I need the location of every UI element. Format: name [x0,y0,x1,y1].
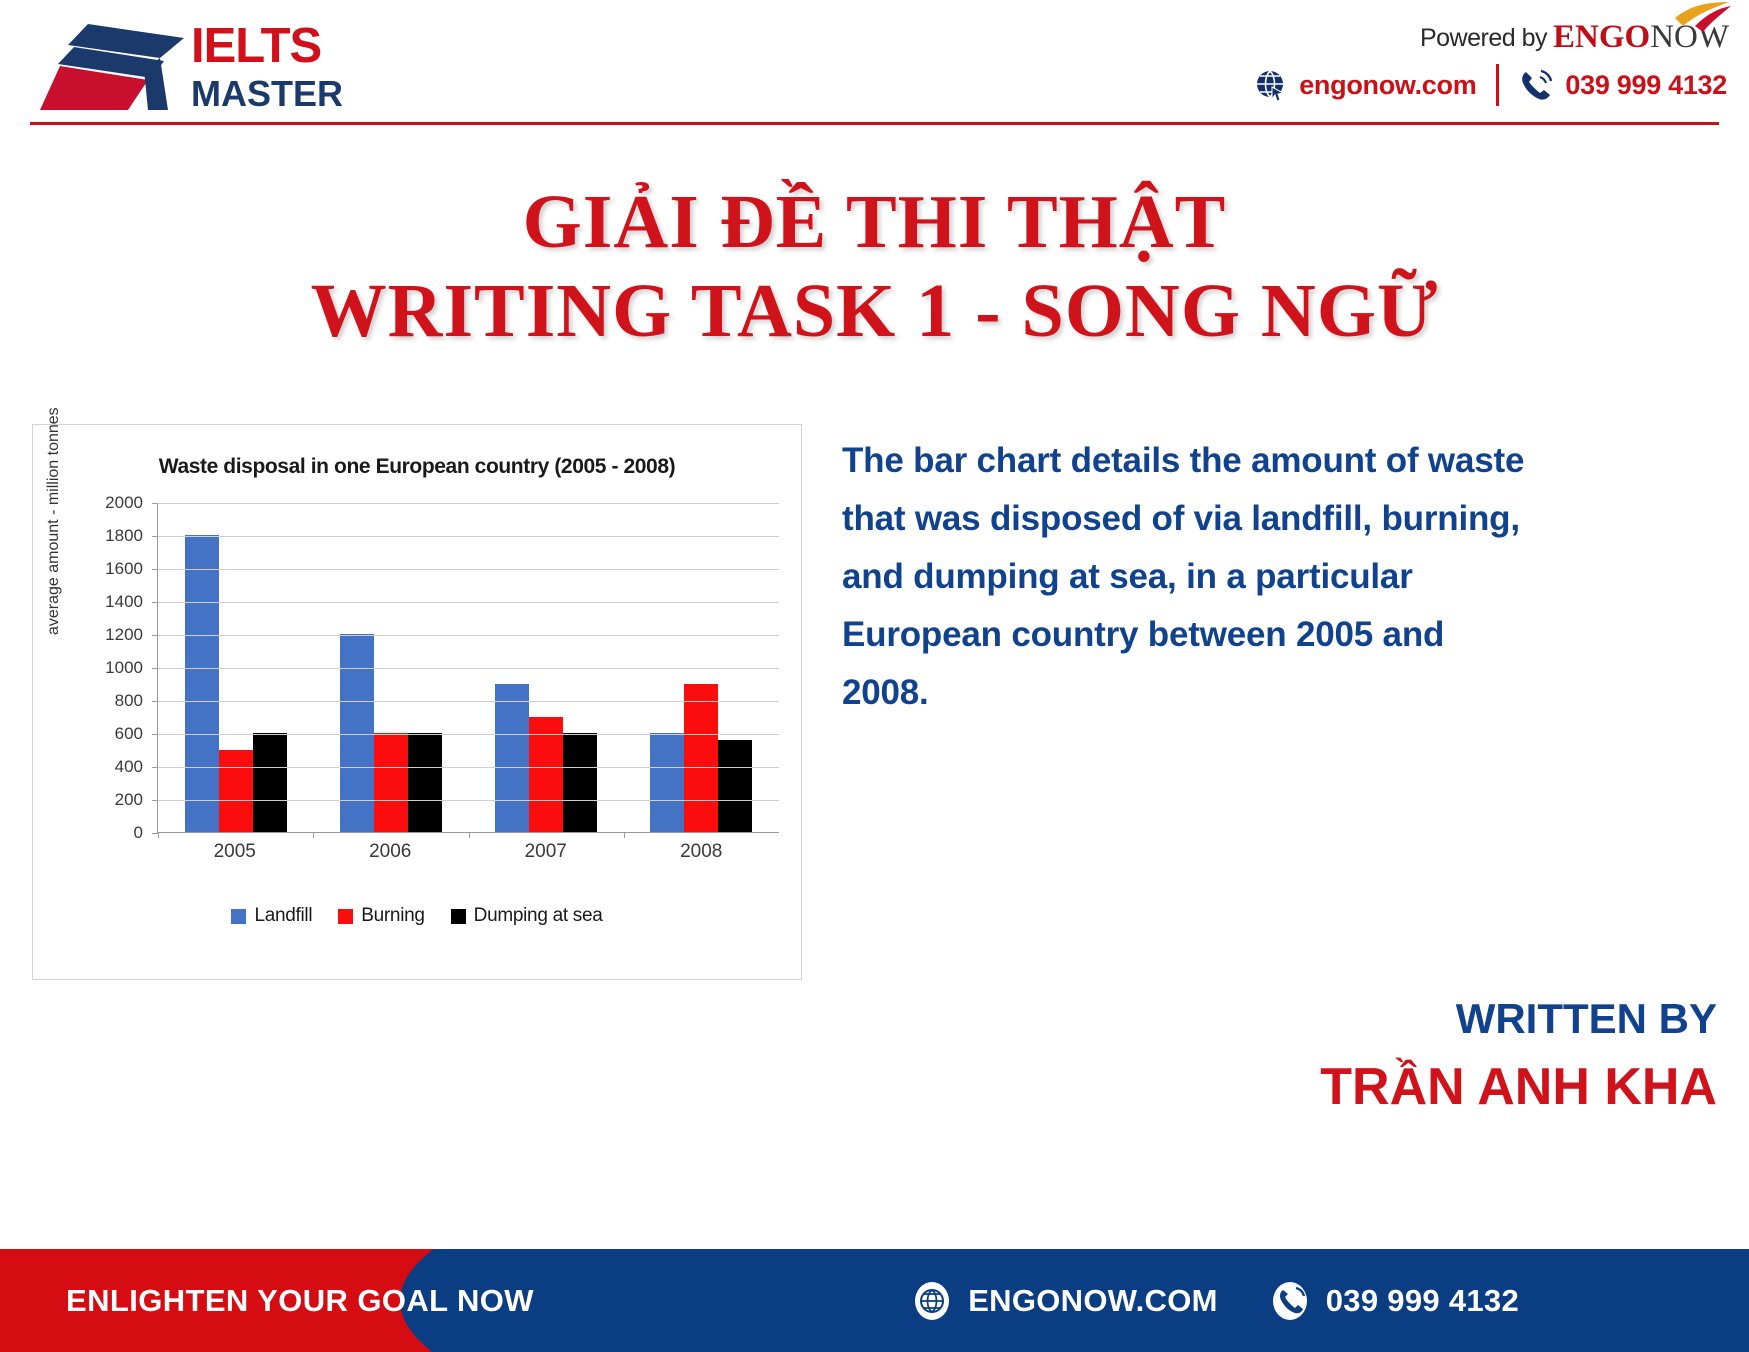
chart-y-tickmark [152,536,158,537]
chart-gridline [158,569,779,570]
chart-legend-swatch [338,909,353,924]
chart-y-tickmark [152,569,158,570]
chart-card: Waste disposal in one European country (… [32,424,802,980]
chart-y-tick: 0 [89,823,143,843]
engonow-swoosh-icon [1673,0,1733,32]
chart-bar [650,733,684,832]
chart-legend: LandfillBurningDumping at sea [33,905,801,927]
chart-x-axis-labels: 2005200620072008 [157,841,779,863]
chart-y-tick: 1800 [89,526,143,546]
chart-y-tick: 600 [89,724,143,744]
chart-y-tick: 1000 [89,658,143,678]
chart-x-label: 2005 [157,841,313,863]
globe-cursor-icon [1255,69,1287,101]
chart-legend-item: Burning [338,905,424,927]
chart-legend-label: Burning [361,905,424,927]
chart-legend-swatch [231,909,246,924]
logo-brand-top: IELTS [191,22,343,71]
chart-y-tick: 800 [89,691,143,711]
chart-bar [718,740,752,832]
page-title-line-1: GIẢI ĐỀ THI THẬT [0,180,1749,265]
chart-legend-label: Landfill [254,905,312,927]
chart-bar [253,733,287,832]
header-divider-rule [30,122,1719,125]
chart-bar [185,535,219,832]
chart-y-tick: 1600 [89,559,143,579]
page-title-line-2: WRITING TASK 1 - SONG NGỮ [0,265,1749,358]
header-phone-text: 039 999 4132 [1565,70,1727,101]
chart-y-tick: 400 [89,757,143,777]
chart-bar [340,634,374,832]
footer-slogan: ENLIGHTEN YOUR GOAL NOW [66,1249,534,1352]
chart-x-label: 2006 [313,841,469,863]
chart-y-tick: 2000 [89,493,143,513]
description-paragraph: The bar chart details the amount of wast… [842,432,1532,722]
chart-legend-swatch [451,909,466,924]
globe-icon [912,1281,952,1321]
written-by-label: WRITTEN BY [1017,995,1717,1043]
phone-icon [1270,1281,1310,1321]
chart-plot-area: 2000180016001400120010008006004002000 20… [95,503,787,855]
chart-y-tickmark [152,635,158,636]
chart-y-tickmark [152,767,158,768]
footer-phone[interactable]: 039 999 4132 [1270,1281,1519,1321]
chart-bar [219,750,253,833]
chart-gridline [158,701,779,702]
engonow-wordmark-strong: ENGO [1553,19,1650,55]
chart-gridline [158,800,779,801]
chart-gridline [158,602,779,603]
page-footer: ENLIGHTEN YOUR GOAL NOW ENGONOW.COM 039 … [0,1249,1749,1352]
written-by-block: WRITTEN BY TRẦN ANH KHA [1017,995,1717,1117]
chart-y-tickmark [152,800,158,801]
chart-y-tickmark [152,734,158,735]
chart-title: Waste disposal in one European country (… [33,455,801,479]
footer-website[interactable]: ENGONOW.COM [912,1281,1218,1321]
page-title: GIẢI ĐỀ THI THẬT WRITING TASK 1 - SONG N… [0,180,1749,358]
chart-y-tick: 1400 [89,592,143,612]
chart-plot [157,503,779,833]
footer-phone-text: 039 999 4132 [1326,1283,1519,1319]
chart-legend-label: Dumping at sea [474,905,603,927]
header-website-text: engonow.com [1299,70,1476,101]
chart-y-tickmark [152,668,158,669]
chart-gridline [158,668,779,669]
header-website[interactable]: engonow.com [1255,69,1476,101]
written-by-author: TRẦN ANH KHA [1017,1057,1717,1117]
chart-y-tickmark [152,701,158,702]
chart-x-tickmark [158,832,159,838]
chart-y-axis-label: average amount - million tonnes [45,407,63,635]
chart-x-tickmark [313,832,314,838]
chart-y-tickmark [152,503,158,504]
chart-x-label: 2007 [468,841,624,863]
logo-mark-icon [36,14,186,114]
page-header: IELTS MASTER Powered by ENGONOW engonow.… [0,0,1749,130]
chart-x-tickmark [624,832,625,838]
logo-brand-bottom: MASTER [191,76,343,112]
chart-bar [563,733,597,832]
ielts-master-logo[interactable]: IELTS MASTER [36,14,336,114]
chart-x-tickmark [469,832,470,838]
footer-contact-row: ENGONOW.COM 039 999 4132 [912,1249,1519,1352]
chart-bar [495,684,529,833]
chart-y-tickmark [152,602,158,603]
chart-bar [374,733,408,832]
chart-legend-item: Dumping at sea [451,905,603,927]
chart-y-tick: 200 [89,790,143,810]
chart-gridline [158,536,779,537]
footer-website-text: ENGONOW.COM [968,1283,1218,1319]
powered-by-label: Powered by [1420,24,1547,53]
chart-bar [408,733,442,832]
chart-y-tick: 1200 [89,625,143,645]
chart-y-tickmark [152,833,158,834]
chart-legend-item: Landfill [231,905,312,927]
header-divider [1496,64,1499,106]
chart-y-axis-ticks: 2000180016001400120010008006004002000 [95,503,149,833]
engonow-wordmark: ENGONOW [1553,22,1729,53]
chart-gridline [158,503,779,504]
powered-by-block: Powered by ENGONOW [1420,22,1729,53]
chart-gridline [158,767,779,768]
chart-x-label: 2008 [624,841,780,863]
chart-bar [684,684,718,833]
header-contact-row: engonow.com 039 999 4132 [1255,64,1727,106]
chart-gridline [158,635,779,636]
chart-gridline [158,734,779,735]
phone-icon [1519,69,1553,101]
header-phone[interactable]: 039 999 4132 [1519,69,1727,101]
